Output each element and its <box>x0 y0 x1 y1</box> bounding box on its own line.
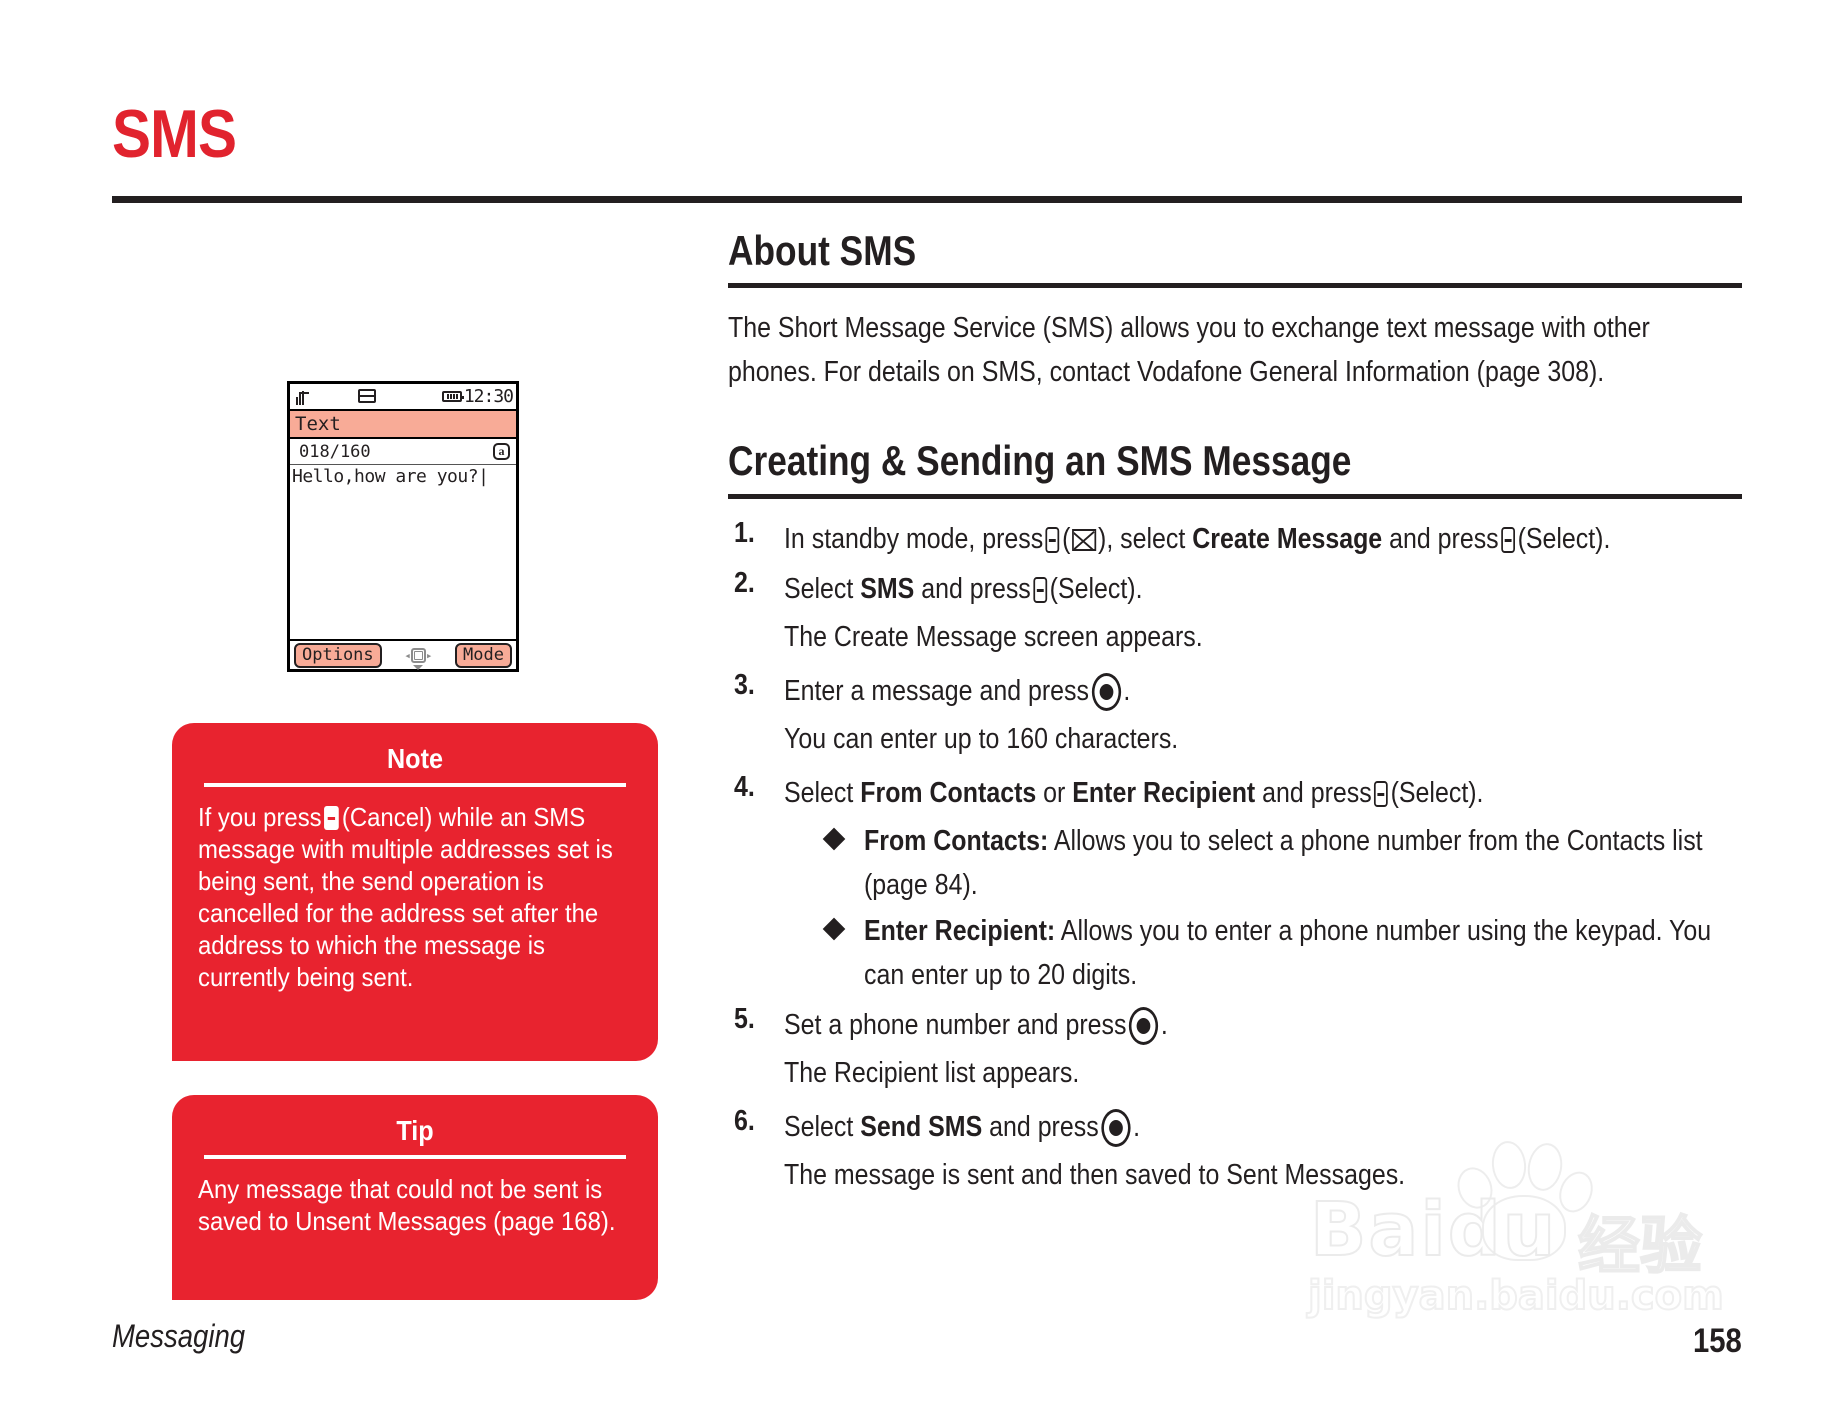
softkey-icon <box>1033 577 1047 603</box>
phone-message-text: Hello,how are you? <box>292 466 478 487</box>
main-content-column: About SMS The Short Message Service (SMS… <box>728 228 1742 1207</box>
step-4-bold-enter-recipient: Enter Recipient <box>1072 777 1255 809</box>
softkey-icon <box>1374 781 1388 807</box>
note-body: If you press(Cancel) while an SMS messag… <box>198 801 629 993</box>
step-1-part-1: In standby mode, press <box>784 523 1043 555</box>
phone-screen-mockup: 12:30 Text 018/160 a Hello,how are you?|… <box>287 381 519 672</box>
input-mode-a-icon: a <box>493 443 510 460</box>
step-2-text: Select SMS and press(Select). <box>784 567 1740 611</box>
step-2: 2. Select SMS and press(Select). The Cre… <box>728 567 1742 659</box>
step-6-result: The message is sent and then saved to Se… <box>784 1153 1740 1197</box>
list-item: From Contacts: Allows you to select a ph… <box>824 819 1742 907</box>
phone-softkey-bar: Options ◂ ▸ Mode <box>290 639 516 669</box>
center-key-icon <box>1129 1007 1158 1045</box>
step-5: 5. Set a phone number and press. The Rec… <box>728 1003 1742 1095</box>
step-6-part-1: Select <box>784 1111 853 1143</box>
step-1-part-2: ( <box>1062 523 1070 555</box>
step-1-text: In standby mode, press(), select Create … <box>784 517 1740 561</box>
center-key-icon <box>1101 1109 1130 1147</box>
step-6-text: Select Send SMS and press. <box>784 1105 1740 1149</box>
step-5-part-1: Set a phone number and press <box>784 1009 1126 1041</box>
note-divider <box>204 783 626 787</box>
softkey-icon <box>324 806 339 830</box>
step-3-part-2: . <box>1123 675 1130 707</box>
tip-title: Tip <box>220 1115 611 1147</box>
heading-divider-2 <box>728 494 1742 499</box>
step-6-number: 6. <box>734 1105 755 1138</box>
envelope-icon <box>358 389 376 403</box>
step-1-part-3: ), select <box>1098 523 1185 555</box>
step-1: 1. In standby mode, press(), select Crea… <box>728 517 1742 561</box>
tip-callout: Tip Any message that could not be sent i… <box>172 1095 658 1300</box>
step-1-part-4: and press <box>1389 523 1499 555</box>
step-4-part-3: and press <box>1262 777 1372 809</box>
watermark-url: jingyan.baidu.com <box>1308 1273 1724 1319</box>
note-text-before: If you press <box>198 802 322 832</box>
battery-icon <box>442 391 462 402</box>
step-3-result: You can enter up to 160 characters. <box>784 717 1740 761</box>
step-4-number: 4. <box>734 771 755 804</box>
step-2-result: The Create Message screen appears. <box>784 615 1740 659</box>
diamond-bullet-icon <box>823 917 846 940</box>
step-5-result: The Recipient list appears. <box>784 1051 1740 1095</box>
page-title: SMS <box>112 100 236 168</box>
step-4-part-2: or <box>1043 777 1065 809</box>
phone-title-bar: Text <box>290 411 516 439</box>
diamond-bullet-icon <box>823 827 846 850</box>
center-key-icon <box>1092 673 1121 711</box>
step-5-text: Set a phone number and press. <box>784 1003 1740 1047</box>
step-5-number: 5. <box>734 1003 755 1036</box>
softkey-mode: Mode <box>455 643 512 668</box>
heading-about-sms: About SMS <box>728 228 1742 273</box>
softkey-icon <box>1046 527 1060 553</box>
step-3-text: Enter a message and press. <box>784 669 1740 713</box>
step-2-number: 2. <box>734 567 755 600</box>
step-6-part-2: and press <box>989 1111 1099 1143</box>
step-1-bold-create-message: Create Message <box>1192 523 1382 555</box>
phone-message-area: Hello,how are you?| <box>290 465 516 641</box>
step-3-number: 3. <box>734 669 755 702</box>
note-callout: Note If you press(Cancel) while an SMS m… <box>172 723 658 1061</box>
step-4: 4. Select From Contacts or Enter Recipie… <box>728 771 1742 997</box>
step-4-bullet-list: From Contacts: Allows you to select a ph… <box>784 819 1742 997</box>
softkey-icon <box>1501 527 1515 553</box>
step-2-part-3: (Select). <box>1050 573 1143 605</box>
step-3: 3. Enter a message and press. You can en… <box>728 669 1742 761</box>
watermark-chinese: 经验 <box>1578 1195 1702 1285</box>
tip-body: Any message that could not be sent is sa… <box>198 1173 629 1237</box>
note-title: Note <box>220 743 611 775</box>
step-5-part-2: . <box>1161 1009 1168 1041</box>
step-6-bold-send-sms: Send SMS <box>860 1111 982 1143</box>
step-4-bold-from-contacts: From Contacts <box>860 777 1036 809</box>
step-6: 6. Select Send SMS and press. The messag… <box>728 1105 1742 1197</box>
step-2-bold-sms: SMS <box>860 573 914 605</box>
nav-left-arrow: ◂ <box>404 649 411 662</box>
phone-status-bar: 12:30 <box>290 384 516 411</box>
list-item: Enter Recipient: Allows you to enter a p… <box>824 909 1742 997</box>
title-divider <box>112 196 1742 203</box>
step-1-number: 1. <box>734 517 755 550</box>
step-2-part-2: and press <box>921 573 1031 605</box>
step-2-part-1: Select <box>784 573 853 605</box>
about-sms-paragraph: The Short Message Service (SMS) allows y… <box>728 306 1740 394</box>
footer-section-name: Messaging <box>112 1318 245 1355</box>
nav-right-arrow: ▸ <box>426 649 433 662</box>
step-6-part-3: . <box>1133 1111 1140 1143</box>
softkey-options: Options <box>294 643 382 668</box>
heading-divider-1 <box>728 283 1742 288</box>
step-1-part-5: (Select). <box>1518 523 1611 555</box>
bullet-1-label: From Contacts: <box>864 825 1048 857</box>
procedure-steps: 1. In standby mode, press(), select Crea… <box>728 517 1742 1197</box>
phone-char-counter: 018/160 a <box>290 439 516 465</box>
bullet-2-text: Enter Recipient: Allows you to enter a p… <box>864 909 1740 997</box>
nav-pad-icon: ◂ ▸ <box>395 642 441 668</box>
heading-creating-sending: Creating & Sending an SMS Message <box>728 438 1742 483</box>
envelope-icon <box>1072 529 1096 551</box>
text-cursor: | <box>478 466 479 487</box>
page-number: 158 <box>1693 1322 1742 1361</box>
bullet-2-label: Enter Recipient: <box>864 915 1055 947</box>
signal-bars-icon <box>296 390 307 405</box>
char-counter-value: 018/160 <box>299 442 371 462</box>
step-4-part-4: (Select). <box>1391 777 1484 809</box>
phone-clock: 12:30 <box>464 386 513 407</box>
step-3-part-1: Enter a message and press <box>784 675 1089 707</box>
bullet-1-text: From Contacts: Allows you to select a ph… <box>864 819 1740 907</box>
step-4-text: Select From Contacts or Enter Recipient … <box>784 771 1740 815</box>
tip-divider <box>204 1155 626 1159</box>
step-4-part-1: Select <box>784 777 853 809</box>
